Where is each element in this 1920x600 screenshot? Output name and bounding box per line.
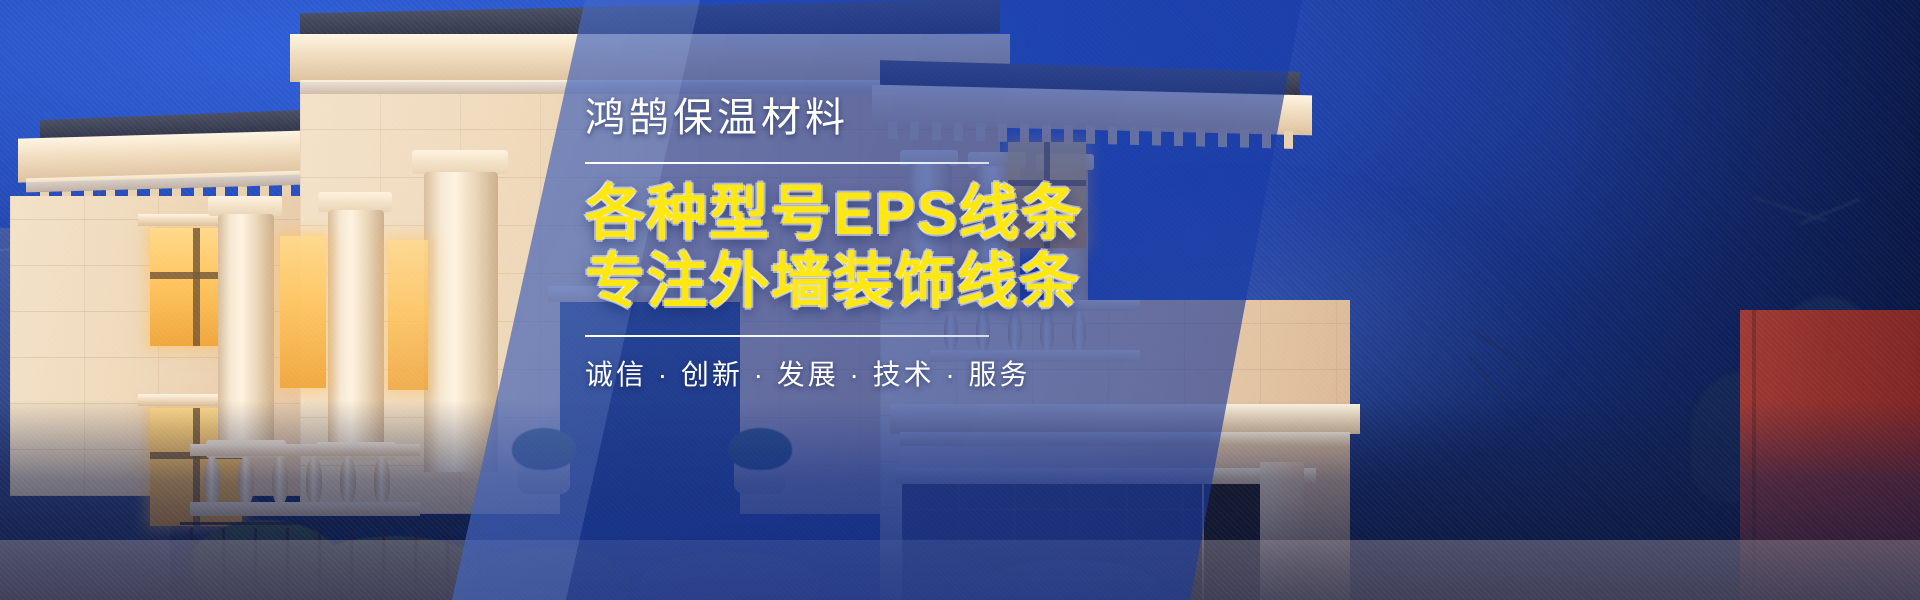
headline-line-1: 各种型号EPS线条	[585, 180, 1325, 248]
banner-copy: 鸿鹄保温材料 各种型号EPS线条 专注外墙装饰线条 诚信 · 创新 · 发展 ·…	[585, 96, 1325, 393]
window-left-upper-mullion-v	[193, 228, 200, 346]
portico-recess-glow	[280, 236, 326, 388]
column-1-capital	[208, 196, 282, 216]
headline-line-2: 专注外墙装饰线条	[585, 248, 1325, 316]
divider-bottom	[585, 335, 989, 337]
column-3-capital	[412, 150, 508, 174]
divider-top	[585, 162, 989, 164]
portico-recess-glow-2	[388, 240, 428, 390]
brand-name: 鸿鹄保温材料	[585, 96, 1325, 140]
hero-banner: 鸿鹄保温材料 各种型号EPS线条 专注外墙装饰线条 诚信 · 创新 · 发展 ·…	[0, 0, 1920, 600]
column-2-capital	[318, 192, 392, 212]
tagline: 诚信 · 创新 · 发展 · 技术 · 服务	[585, 353, 1325, 393]
